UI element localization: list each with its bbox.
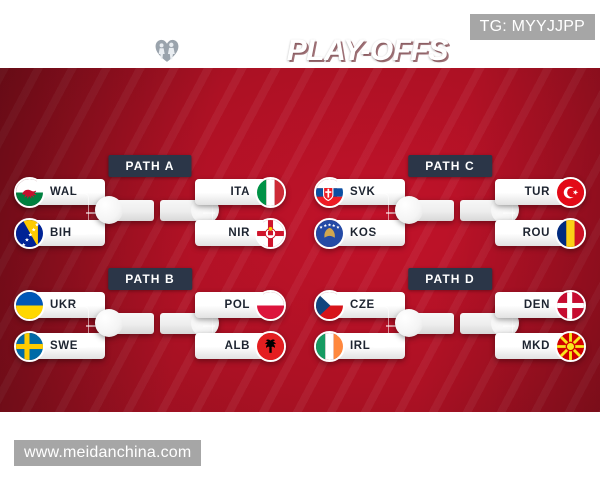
playoff-bracket-graphic: EUROPEAN QUALIFIERS PLAY-OFFS PATH A WAL [0, 0, 600, 480]
path-c-team-rou[interactable]: ROU [495, 220, 586, 246]
path-d-semifinal-winner-left[interactable] [395, 312, 454, 334]
path-a-block: PATH A WAL [0, 155, 300, 267]
path-a-team-ita[interactable]: ITA [195, 179, 286, 205]
path-b-team-pol[interactable]: POL [195, 292, 286, 318]
path-a-team-wal[interactable]: WAL [14, 179, 105, 205]
header-divider [271, 36, 273, 66]
path-c-team-svk[interactable]: SVK [314, 179, 405, 205]
winner-bulb [395, 196, 423, 224]
path-a-left-bracket [74, 193, 89, 235]
graphic-header: EUROPEAN QUALIFIERS PLAY-OFFS [0, 28, 600, 74]
denmark-flag-icon [555, 290, 586, 321]
path-d-left-bracket [374, 306, 389, 348]
team-code: ITA [195, 179, 263, 205]
winner-bulb [95, 309, 123, 337]
turkey-flag-icon [555, 177, 586, 208]
czechia-flag-icon [314, 290, 345, 321]
team-code: IRL [337, 333, 405, 359]
romania-flag-icon [555, 218, 586, 249]
team-code: MKD [495, 333, 563, 359]
republic-of-ireland-flag-icon [314, 331, 345, 362]
path-a-semifinal-winner-left[interactable] [95, 199, 154, 221]
path-b-block: PATH B UKR SWE [0, 268, 300, 380]
sweden-flag-icon [14, 331, 45, 362]
path-c-left-bracket [374, 193, 389, 235]
european-qualifiers-wordmark: EUROPEAN QUALIFIERS [189, 40, 257, 62]
path-b-label: PATH B [108, 268, 192, 290]
northern-ireland-flag-icon [255, 218, 286, 249]
path-c-team-kos[interactable]: KOS [314, 220, 405, 246]
kosovo-flag-icon [314, 218, 345, 249]
team-code: DEN [495, 292, 563, 318]
european-qualifiers-badge-icon [152, 36, 182, 66]
path-c-block: PATH C SVK [300, 155, 600, 267]
path-b-semifinal-winner-left[interactable] [95, 312, 154, 334]
team-code: TUR [495, 179, 563, 205]
team-code: ALB [195, 333, 263, 359]
team-code: POL [195, 292, 263, 318]
path-a-label: PATH A [108, 155, 191, 177]
team-code: KOS [337, 220, 405, 246]
bottom-watermark: www.meidanchina.com [14, 440, 201, 466]
team-code: NIR [195, 220, 263, 246]
path-d-team-den[interactable]: DEN [495, 292, 586, 318]
path-c-team-tur[interactable]: TUR [495, 179, 586, 205]
path-d-team-cze[interactable]: CZE [314, 292, 405, 318]
page-title: PLAY-OFFS [287, 34, 448, 68]
albania-flag-icon [255, 331, 286, 362]
path-c-semifinal-winner-left[interactable] [395, 199, 454, 221]
logo-line-2: QUALIFIERS [189, 51, 257, 62]
path-d-team-irl[interactable]: IRL [314, 333, 405, 359]
path-d-team-mkd[interactable]: MKD [495, 333, 586, 359]
path-c-label: PATH C [408, 155, 492, 177]
slovakia-flag-icon [314, 177, 345, 208]
winner-bulb [95, 196, 123, 224]
team-code: SWE [37, 333, 105, 359]
path-b-left-bracket [74, 306, 89, 348]
path-d-block: PATH D CZE IRL [300, 268, 600, 380]
winner-bulb [395, 309, 423, 337]
ukraine-flag-icon [14, 290, 45, 321]
poland-flag-icon [255, 290, 286, 321]
path-d-label: PATH D [408, 268, 492, 290]
team-code: BIH [37, 220, 105, 246]
wales-flag-icon [14, 177, 45, 208]
path-b-team-alb[interactable]: ALB [195, 333, 286, 359]
path-a-team-nir[interactable]: NIR [195, 220, 286, 246]
bosnia-and-herzegovina-flag-icon [14, 218, 45, 249]
italy-flag-icon [255, 177, 286, 208]
path-b-team-ukr[interactable]: UKR [14, 292, 105, 318]
european-qualifiers-logo: EUROPEAN QUALIFIERS [152, 36, 257, 66]
path-b-team-swe[interactable]: SWE [14, 333, 105, 359]
path-a-team-bih[interactable]: BIH [14, 220, 105, 246]
team-code: ROU [495, 220, 563, 246]
north-macedonia-flag-icon [555, 331, 586, 362]
